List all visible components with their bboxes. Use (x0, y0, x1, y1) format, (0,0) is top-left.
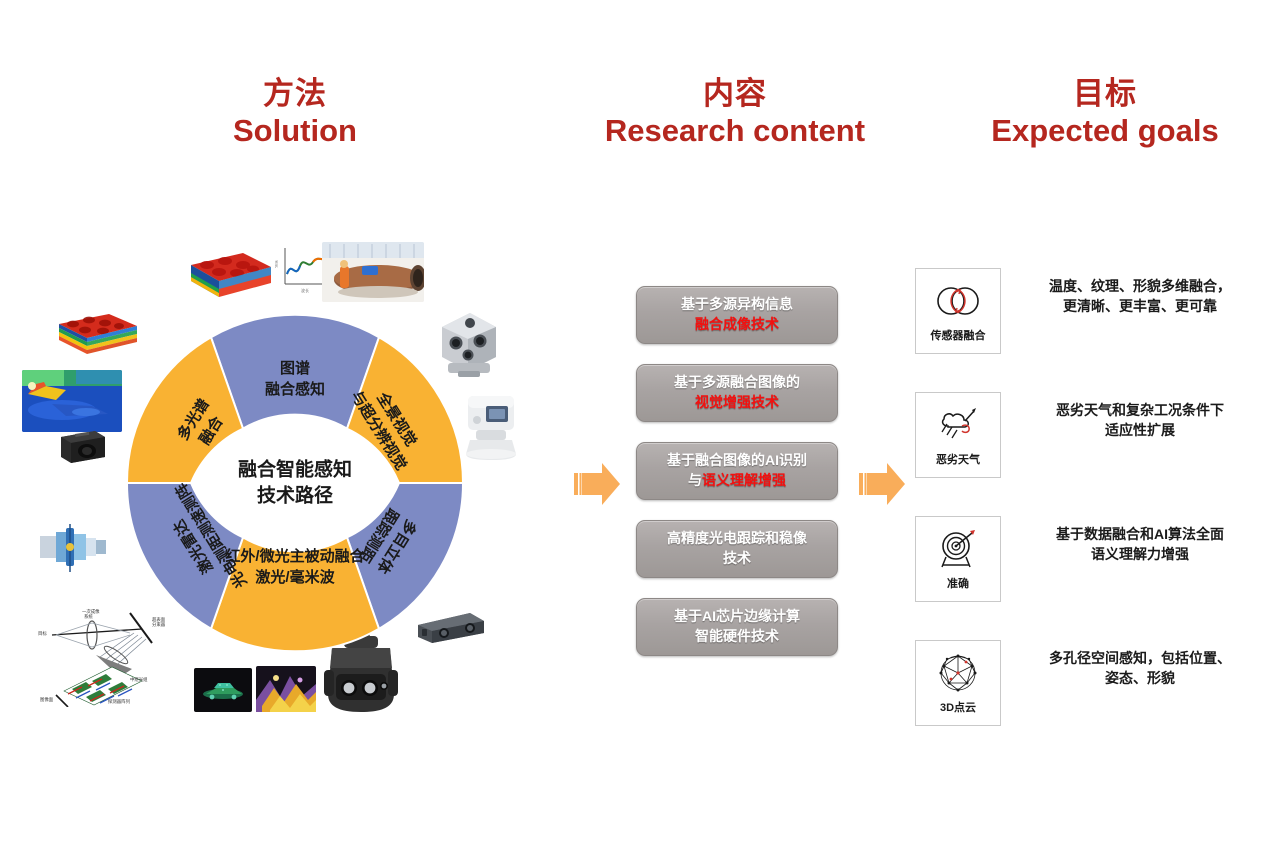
expected-goals-column: 传感器融合 温度、纹理、形貌多维融合， 更清晰、更丰富、更可靠 (915, 268, 1255, 764)
column-header-solution-en: Solution (165, 113, 425, 150)
technology-path-donut: 图谱 融合感知 全景视觉 与超分辨视觉 多目立体 跟踪测距 激光/毫米波 红外/… (100, 288, 490, 678)
research-box-2-text: 基于多源融合图像的 视觉增强技术 (668, 373, 806, 413)
goal-card-accuracy[interactable]: 准确 (915, 516, 1001, 602)
svg-text:强度: 强度 (275, 260, 278, 268)
column-header-solution-cn: 方法 (165, 76, 425, 113)
diagram-canvas: 方法 Solution 内容 Research content 目标 Expec… (0, 0, 1268, 866)
research-box-1-text: 基于多源异构信息 融合成像技术 (675, 295, 799, 335)
column-header-solution: 方法 Solution (165, 76, 425, 149)
goal-text-4-line2: 姿态、形貌 (1025, 668, 1255, 688)
goal-text-2-line1: 恶劣天气和复杂工况条件下 (1025, 400, 1255, 420)
research-box-3-line2: 语义理解增强 (702, 472, 786, 488)
research-box-3-line1: 基于融合图像的AI识别 (667, 452, 807, 468)
column-header-goals: 目标 Expected goals (940, 76, 1268, 149)
goal-text-3-line1: 基于数据融合和AI算法全面 (1025, 524, 1255, 544)
goal-text-4: 多孔径空间感知，包括位置、 姿态、形貌 (1025, 648, 1255, 689)
goal-card-sensor-fusion[interactable]: 传感器融合 (915, 268, 1001, 354)
research-box-5[interactable]: 基于AI芯片边缘计算 智能硬件技术 (636, 598, 838, 656)
goal-card-4-caption: 3D点云 (940, 699, 976, 715)
goal-card-3-caption: 准确 (947, 575, 969, 591)
goal-card-2-caption: 恶劣天气 (936, 451, 980, 467)
column-header-goals-cn: 目标 (940, 76, 1268, 113)
goal-text-4-line1: 多孔径空间感知，包括位置、 (1025, 648, 1255, 668)
goal-text-1: 温度、纹理、形貌多维融合， 更清晰、更丰富、更可靠 (1025, 276, 1255, 317)
research-box-3-prefix2: 与 (688, 472, 702, 488)
seg-top-line2: 融合感知 (265, 380, 325, 398)
column-header-content-cn: 内容 (540, 76, 930, 113)
goal-row-2: 恶劣天气 恶劣天气和复杂工况条件下 适应性扩展 (915, 392, 1255, 504)
goal-text-3: 基于数据融合和AI算法全面 语义理解力增强 (1025, 524, 1255, 565)
column-header-content: 内容 Research content (540, 76, 930, 149)
goal-row-4: 3D点云 多孔径空间感知，包括位置、 姿态、形貌 (915, 640, 1255, 752)
research-box-4-line2: 技术 (723, 550, 751, 566)
goal-row-3: 准确 基于数据融合和AI算法全面 语义理解力增强 (915, 516, 1255, 628)
research-box-5-text: 基于AI芯片边缘计算 智能硬件技术 (668, 607, 806, 647)
right-arrow-icon (859, 463, 905, 505)
research-box-5-line2: 智能硬件技术 (695, 628, 779, 644)
goal-card-point-cloud[interactable]: 3D点云 (915, 640, 1001, 726)
right-arrow-icon (574, 463, 620, 505)
goal-text-3-line2: 语义理解力增强 (1025, 544, 1255, 564)
column-header-goals-en: Expected goals (940, 113, 1268, 150)
svg-text:目标: 目标 (38, 630, 47, 637)
point-cloud-icon (933, 649, 983, 697)
svg-text:系统: 系统 (84, 613, 93, 620)
research-box-1[interactable]: 基于多源异构信息 融合成像技术 (636, 286, 838, 344)
research-box-5-line1: 基于AI芯片边缘计算 (674, 608, 800, 624)
goal-text-2-line2: 适应性扩展 (1025, 420, 1255, 440)
column-header-content-en: Research content (540, 113, 930, 150)
donut-center-label: 融合智能感知 技术路径 (195, 457, 395, 508)
research-box-3[interactable]: 基于融合图像的AI识别 与语义理解增强 (636, 442, 838, 500)
goal-text-1-line1: 温度、纹理、形貌多维融合， (1025, 276, 1255, 296)
donut-center-line2: 技术路径 (195, 483, 395, 509)
arrow-solution-to-content (568, 455, 626, 513)
target-accuracy-icon (932, 525, 984, 573)
research-box-3-text: 基于融合图像的AI识别 与语义理解增强 (661, 451, 813, 491)
goal-card-1-caption: 传感器融合 (931, 327, 986, 343)
goal-text-2: 恶劣天气和复杂工况条件下 适应性扩展 (1025, 400, 1255, 441)
bad-weather-icon (932, 401, 984, 449)
research-box-1-line1: 基于多源异构信息 (681, 296, 793, 312)
donut-center-line1: 融合智能感知 (195, 457, 395, 483)
svg-text:图像面: 图像面 (40, 696, 54, 703)
research-box-4[interactable]: 高精度光电跟踪和稳像 技术 (636, 520, 838, 578)
goal-row-1: 传感器融合 温度、纹理、形貌多维融合， 更清晰、更丰富、更可靠 (915, 268, 1255, 380)
research-box-2[interactable]: 基于多源融合图像的 视觉增强技术 (636, 364, 838, 422)
seg-bottom-line1: 激光/毫米波 (255, 568, 335, 586)
research-box-4-line1: 高精度光电跟踪和稳像 (667, 530, 807, 546)
research-box-2-line1: 基于多源融合图像的 (674, 374, 800, 390)
research-box-2-line2: 视觉增强技术 (695, 394, 779, 410)
research-content-column: 基于多源异构信息 融合成像技术 基于多源融合图像的 视觉增强技术 基于融合图像的… (636, 286, 836, 676)
research-box-4-text: 高精度光电跟踪和稳像 技术 (661, 529, 813, 569)
svg-text:探测器阵列: 探测器阵列 (108, 698, 131, 705)
seg-bottom-line2: 红外/微光主被动融合 (225, 547, 365, 565)
sensor-fusion-icon (932, 277, 984, 325)
goal-card-bad-weather[interactable]: 恶劣天气 (915, 392, 1001, 478)
arrow-content-to-goals (853, 455, 911, 513)
research-box-1-line2: 融合成像技术 (695, 316, 779, 332)
goal-text-1-line2: 更清晰、更丰富、更可靠 (1025, 296, 1255, 316)
seg-top-line1: 图谱 (280, 359, 310, 377)
